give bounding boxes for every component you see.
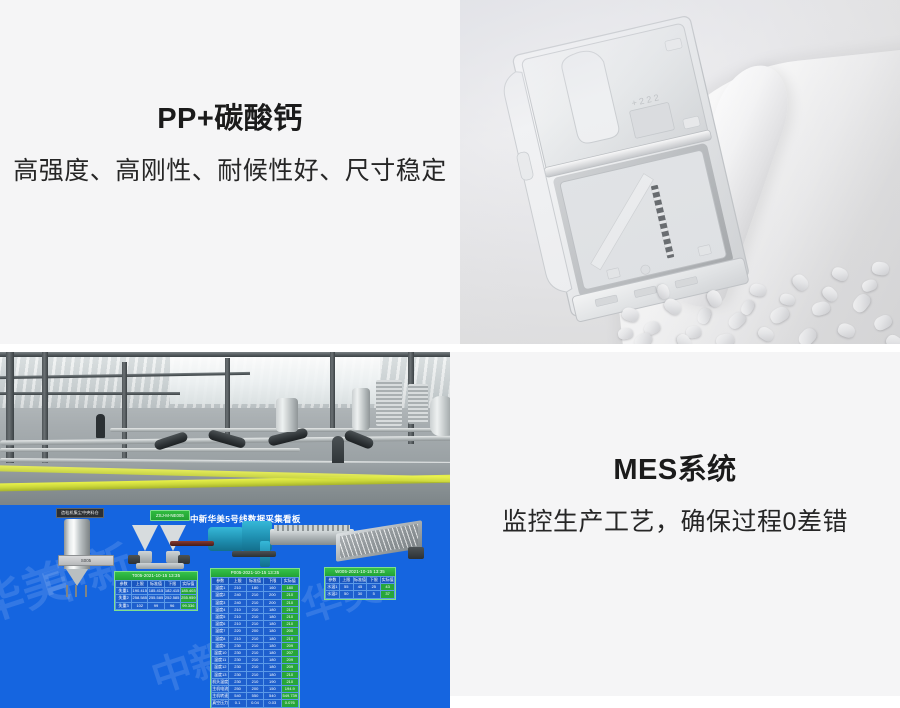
cell-lower: 0.03 <box>264 700 281 707</box>
cell-param: 失重1 <box>116 588 132 595</box>
cell-standard: 200 <box>246 686 263 693</box>
cell-upper: 220 <box>229 628 246 635</box>
cell-actual: 180 <box>281 585 298 592</box>
cell-param: 水温1 <box>326 584 340 591</box>
cell-lower: 150 <box>264 686 281 693</box>
col-standard: 标准值 <box>246 578 263 585</box>
cell-param: 温度8 <box>212 635 229 642</box>
cell-actual: 37 <box>381 591 395 598</box>
col-actual: 实际值 <box>281 578 298 585</box>
cell-standard: 210 <box>246 621 263 628</box>
cell-standard: 210 <box>246 614 263 621</box>
cell-param: 温度4 <box>212 606 229 613</box>
table-row: 温度10230210180207 <box>212 650 299 657</box>
cell-lower: 180 <box>264 606 281 613</box>
cell-actual: 43 <box>381 584 395 591</box>
mes-subline: 监控生产工艺，确保过程0差错 <box>502 509 848 537</box>
cell-param: 温度6 <box>212 621 229 628</box>
cell-upper: 230 <box>229 671 246 678</box>
plastic-pellets <box>616 210 900 344</box>
cell-standard: 210 <box>246 599 263 606</box>
cell-lower: 25 <box>367 584 381 591</box>
cell-actual: 209 <box>281 664 298 671</box>
cell-standard: 210 <box>246 671 263 678</box>
cell-actual: 210 <box>281 592 298 599</box>
factory-hall-photo <box>0 352 450 505</box>
mes-headline: MES系统 <box>613 455 736 487</box>
cell-upper: 210 <box>229 606 246 613</box>
cell-upper: 210 <box>229 635 246 642</box>
cell-standard: 210 <box>246 592 263 599</box>
extruder-table: P005-2021-10-15 13:35 参数 上限 标准值 下限 实际值 温… <box>210 568 300 708</box>
col-actual: 实际值 <box>381 577 395 584</box>
cell-actual: 210 <box>281 635 298 642</box>
cell-lower: 190 <box>264 678 281 685</box>
cell-upper: 210 <box>229 621 246 628</box>
cell-standard: 550 <box>246 693 263 700</box>
cell-param: 真空压力 <box>212 700 229 707</box>
bottom-section: 华美 中新 中新 华美 中新华美5号线数据采集看板 造粒机集尘中央料仓 S005 <box>0 352 900 708</box>
cell-actual: 99.336 <box>180 602 196 609</box>
cell-standard: 210 <box>246 642 263 649</box>
cell-lower: 180 <box>264 642 281 649</box>
table-row: 温度11230210180209 <box>212 657 299 664</box>
table-row: 温度8210210180210 <box>212 635 299 642</box>
cell-upper: 210 <box>229 585 246 592</box>
table-row: 温度6210210180210 <box>212 621 299 628</box>
cell-upper: 230 <box>229 650 246 657</box>
cell-upper: 50 <box>339 591 353 598</box>
col-upper: 上限 <box>339 577 353 584</box>
table-row: 温度7220200180200 <box>212 628 299 635</box>
cell-standard: 180 <box>246 585 263 592</box>
table-row: 机头温度230210190210 <box>212 678 299 685</box>
factory-window <box>170 356 380 404</box>
water-table-grid: 参数 上限 标准值 下限 实际值 水温155452543水温25030537 <box>325 576 395 599</box>
table-row: 主机转速540550540549.739 <box>212 693 299 700</box>
extruder-table-header: P005-2021-10-15 13:35 <box>211 569 299 577</box>
col-standard: 标准值 <box>353 577 367 584</box>
cell-actual: 200 <box>281 628 298 635</box>
cell-param: 失重2 <box>116 595 132 602</box>
col-param: 参数 <box>326 577 340 584</box>
cell-standard: 210 <box>246 635 263 642</box>
cell-lower: 182.415 <box>164 588 180 595</box>
cell-lower: 180 <box>264 621 281 628</box>
cell-upper: 102 <box>132 602 148 609</box>
cell-actual: 210 <box>281 621 298 628</box>
cell-param: 温度10 <box>212 650 229 657</box>
pp-caco3-text-panel: PP+碳酸钙 高强度、高刚性、耐候性好、尺寸稳定 <box>0 0 460 344</box>
cell-lower: 180 <box>264 628 281 635</box>
cell-lower: 180 <box>264 657 281 664</box>
cell-upper: 240 <box>229 599 246 606</box>
cell-upper: 230 <box>229 678 246 685</box>
cell-param: 温度12 <box>212 664 229 671</box>
extruder-table-grid: 参数 上限 标准值 下限 实际值 温度1210180160180温度224021… <box>211 577 299 708</box>
cell-upper: 240 <box>229 592 246 599</box>
table-row: 温度13230210180210 <box>212 671 299 678</box>
cell-upper: 250 <box>229 686 246 693</box>
col-actual: 实际值 <box>180 581 196 588</box>
cell-lower: 200 <box>264 599 281 606</box>
table-row: 失重3 102 99 96 99.336 <box>116 602 197 609</box>
col-lower: 下限 <box>367 577 381 584</box>
cell-actual: 207 <box>281 650 298 657</box>
cell-param: 主机转速 <box>212 693 229 700</box>
cell-upper: 540 <box>229 693 246 700</box>
cell-standard: 255.585 <box>148 595 164 602</box>
pp-caco3-headline: PP+碳酸钙 <box>157 104 303 136</box>
col-upper: 上限 <box>229 578 246 585</box>
table-row: 温度4210210180210 <box>212 606 299 613</box>
cell-actual: 549.739 <box>281 693 298 700</box>
factory-worker <box>96 414 105 438</box>
cell-param: 主机电流 <box>212 686 229 693</box>
cell-upper: 190.415 <box>132 588 148 595</box>
col-lower: 下限 <box>164 581 180 588</box>
col-lower: 下限 <box>264 578 281 585</box>
cell-param: 温度11 <box>212 657 229 664</box>
cell-param: 温度7 <box>212 628 229 635</box>
table-row: 主机电流250200150194.9 <box>212 686 299 693</box>
cell-actual: 0.076 <box>281 700 298 707</box>
feeder-tag-chip[interactable]: ZSJ-M-NE005 <box>150 510 190 521</box>
cell-actual: 209 <box>281 642 298 649</box>
cell-upper: 230 <box>229 642 246 649</box>
cell-upper: 55 <box>339 584 353 591</box>
cell-actual: 210 <box>281 606 298 613</box>
cell-upper: 210 <box>229 614 246 621</box>
cell-standard: 99 <box>148 602 164 609</box>
table-row: 水温155452543 <box>326 584 395 591</box>
cell-upper: 0.1 <box>229 700 246 707</box>
cell-standard: 0.04 <box>246 700 263 707</box>
table-row: 温度5210210180210 <box>212 614 299 621</box>
table-row: 温度12230210180209 <box>212 664 299 671</box>
cell-standard: 210 <box>246 650 263 657</box>
cell-upper: 258.585 <box>132 595 148 602</box>
col-upper: 上限 <box>132 581 148 588</box>
pp-caco3-subline: 高强度、高刚性、耐候性好、尺寸稳定 <box>13 158 447 186</box>
cell-standard: 45 <box>353 584 367 591</box>
cell-param: 水温2 <box>326 591 340 598</box>
cell-upper: 230 <box>229 664 246 671</box>
cell-standard: 210 <box>246 606 263 613</box>
extruder-rows: 温度1210180160180温度2240210200210温度32402102… <box>212 585 299 707</box>
product-detail-page: PP+碳酸钙 高强度、高刚性、耐候性好、尺寸稳定 <box>0 0 900 708</box>
water-table-header: W005-2021-10-15 13:35 <box>325 568 395 576</box>
factory-and-dashboard-photo: 华美 中新 中新 华美 中新华美5号线数据采集看板 造粒机集尘中央料仓 S005 <box>0 352 450 708</box>
cell-standard: 210 <box>246 664 263 671</box>
cell-lower: 252.585 <box>164 595 180 602</box>
transfer-pipe-left <box>170 541 214 546</box>
col-param: 参数 <box>212 578 229 585</box>
cell-actual: 185.403 <box>180 588 196 595</box>
product-photo: + 2 2 2 <box>460 0 900 344</box>
cell-actual: 209 <box>281 657 298 664</box>
cell-actual: 210 <box>281 671 298 678</box>
cell-standard: 200 <box>246 628 263 635</box>
cell-actual: 210 <box>281 678 298 685</box>
cell-standard: 30 <box>353 591 367 598</box>
table-row: 温度1210180160180 <box>212 585 299 592</box>
table-row: 温度9230210180209 <box>212 642 299 649</box>
cell-standard: 210 <box>246 657 263 664</box>
table-row: 失重2 258.585 255.585 252.585 255.959 <box>116 595 197 602</box>
section-divider <box>0 344 900 352</box>
cell-param: 温度1 <box>212 585 229 592</box>
cell-param: 温度3 <box>212 599 229 606</box>
table-row: 失重1 190.415 185.415 182.415 185.403 <box>116 588 197 595</box>
col-standard: 标准值 <box>148 581 164 588</box>
top-section: PP+碳酸钙 高强度、高刚性、耐候性好、尺寸稳定 <box>0 0 900 344</box>
cell-param: 机头温度 <box>212 678 229 685</box>
water-table: W005-2021-10-15 13:35 参数 上限 标准值 下限 实际值 水… <box>324 567 396 600</box>
silo-tag-chip[interactable]: S005 <box>58 555 114 566</box>
table-row: 温度2240210200210 <box>212 592 299 599</box>
cell-param: 温度13 <box>212 671 229 678</box>
cell-lower: 200 <box>264 592 281 599</box>
table-row: 真空压力0.10.040.030.076 <box>212 700 299 707</box>
pelletizer-unit <box>336 523 426 563</box>
cell-actual: 255.959 <box>180 595 196 602</box>
cell-param: 温度9 <box>212 642 229 649</box>
silo-label-chip[interactable]: 造粒机集尘中央料仓 <box>56 508 104 518</box>
cell-lower: 540 <box>264 693 281 700</box>
cell-lower: 180 <box>264 614 281 621</box>
cell-param: 失重3 <box>116 602 132 609</box>
feeder-table-grid: 参数 上限 标准值 下限 实际值 失重1 190.415 185.415 18 <box>115 580 197 610</box>
cell-lower: 160 <box>264 585 281 592</box>
mes-dashboard: 华美 中新 中新 华美 中新华美5号线数据采集看板 造粒机集尘中央料仓 S005 <box>0 505 450 708</box>
table-row: 温度3240210200210 <box>212 599 299 606</box>
cell-actual: 210 <box>281 599 298 606</box>
cell-lower: 96 <box>164 602 180 609</box>
table-row: 水温25030537 <box>326 591 395 598</box>
cell-actual: 210 <box>281 614 298 621</box>
cell-standard: 185.415 <box>148 588 164 595</box>
cell-actual: 194.9 <box>281 686 298 693</box>
mes-text-panel: MES系统 监控生产工艺，确保过程0差错 <box>450 352 900 696</box>
feeder-table-header: T005-2021-10-15 13:35 <box>115 572 197 580</box>
feeder-table: T005-2021-10-15 13:35 参数 上限 标准值 下限 实际值 失… <box>114 571 198 611</box>
cell-lower: 180 <box>264 650 281 657</box>
col-param: 参数 <box>116 581 132 588</box>
cell-lower: 180 <box>264 664 281 671</box>
cell-lower: 5 <box>367 591 381 598</box>
cell-upper: 230 <box>229 657 246 664</box>
cell-param: 温度5 <box>212 614 229 621</box>
cell-lower: 180 <box>264 635 281 642</box>
water-rows: 水温155452543水温25030537 <box>326 584 395 598</box>
cell-standard: 210 <box>246 678 263 685</box>
cell-param: 温度2 <box>212 592 229 599</box>
cell-lower: 180 <box>264 671 281 678</box>
